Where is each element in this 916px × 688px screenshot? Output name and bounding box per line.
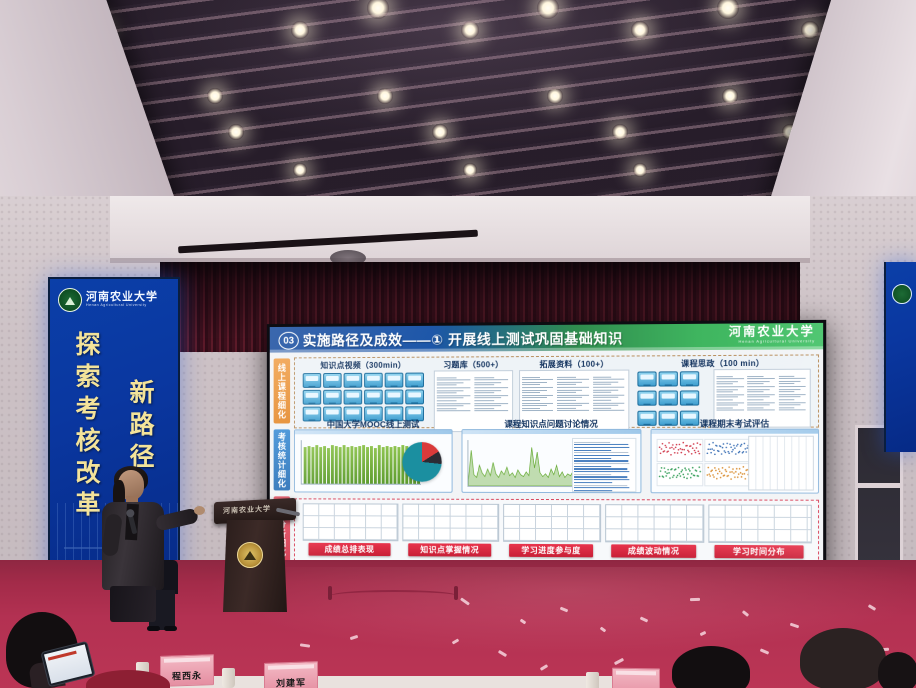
name-card bbox=[612, 668, 660, 688]
analysis-label-progress: 学习进度参与度 bbox=[509, 544, 593, 557]
list-item bbox=[574, 463, 629, 464]
video-monitor-icon bbox=[323, 373, 342, 388]
presentation-slide: 03 实施路径及成效——① 开展线上测试巩固基础知识 河南农业大学 Henan … bbox=[270, 323, 823, 585]
panel-title: 中国大学MOOC线上测试 bbox=[295, 418, 452, 430]
video-monitor-icon bbox=[364, 390, 383, 405]
resource-column-exercises: 习题库（500+） bbox=[434, 359, 513, 425]
ceiling-light bbox=[207, 88, 223, 104]
scatter-mini-3 bbox=[657, 463, 704, 486]
video-monitor-icon bbox=[323, 390, 342, 405]
video-monitor-icon bbox=[680, 371, 699, 386]
video-monitor-icon bbox=[385, 373, 404, 388]
scatter-mini-1 bbox=[657, 439, 704, 462]
list-item bbox=[574, 485, 628, 486]
video-monitor-icon bbox=[680, 391, 699, 406]
ceiling-light bbox=[461, 21, 479, 39]
bar bbox=[347, 448, 350, 484]
name-card-text: 程西永 bbox=[172, 668, 202, 682]
ceiling-light bbox=[722, 88, 738, 104]
scatter-mini-4 bbox=[704, 463, 751, 486]
presenter bbox=[86, 470, 182, 620]
ceiling-light bbox=[432, 124, 448, 140]
podium: 河南农业大学 bbox=[214, 500, 296, 612]
stanchion-post bbox=[328, 586, 332, 600]
paper-cup bbox=[586, 672, 599, 688]
resource-title: 课程思政（100 min） bbox=[635, 358, 810, 370]
slide-university-en: Henan Agricultural University bbox=[729, 338, 815, 344]
analysis-label-fluctuation: 成绩波动情况 bbox=[611, 544, 696, 558]
bar bbox=[366, 447, 369, 484]
analysis-label-time-distribution: 学习时间分布 bbox=[714, 545, 803, 559]
panel-title: 课程期末考试评估 bbox=[652, 417, 818, 429]
bar bbox=[362, 445, 365, 484]
resource-title: 知识点视频（300min） bbox=[301, 360, 426, 372]
banner-headline-2: 新路径 bbox=[122, 379, 158, 475]
video-monitor-icon bbox=[344, 390, 363, 405]
slide-university-cn: 河南农业大学 bbox=[729, 325, 815, 339]
ceiling-light bbox=[291, 21, 309, 39]
table-row bbox=[708, 504, 811, 543]
list-item bbox=[574, 455, 629, 456]
ceiling-light bbox=[293, 163, 307, 177]
list-item bbox=[574, 468, 628, 469]
list-item bbox=[574, 450, 611, 451]
exam-score-table bbox=[748, 436, 814, 491]
video-monitor-icon bbox=[637, 391, 656, 406]
list-item bbox=[574, 460, 628, 461]
ceiling-light bbox=[801, 21, 819, 39]
bar bbox=[350, 446, 353, 484]
banner-logo: 河南农业大学 Henan Agricultural University bbox=[58, 287, 170, 313]
bar bbox=[331, 445, 334, 484]
slide-section-analysis: 成绩总排表现 知识点掌握情况 学习进度参与度 成绩波动情况 学习时间分布 bbox=[294, 498, 819, 564]
slide-title: 实施路径及成效——① 开展线上测试巩固基础知识 bbox=[303, 328, 623, 350]
university-seal-icon bbox=[58, 288, 82, 312]
wall-soffit bbox=[110, 196, 810, 262]
list-item bbox=[574, 479, 629, 480]
stanchion-rope bbox=[330, 590, 458, 602]
bar bbox=[343, 445, 346, 483]
stanchion-post bbox=[454, 586, 458, 600]
list-item bbox=[574, 441, 610, 442]
video-monitor-icon bbox=[405, 389, 424, 404]
list-item bbox=[574, 447, 629, 448]
ceiling-light bbox=[612, 124, 628, 140]
video-monitor-icon bbox=[637, 371, 656, 386]
bar bbox=[386, 446, 389, 483]
audience-head bbox=[800, 628, 886, 688]
banner-university-en: Henan Agricultural University bbox=[86, 304, 158, 308]
list-item bbox=[574, 490, 613, 491]
audience-head bbox=[878, 652, 916, 688]
ceiling-light bbox=[631, 21, 649, 39]
bar bbox=[397, 448, 400, 484]
banner-university-name: 河南农业大学 Henan Agricultural University bbox=[86, 292, 158, 307]
ceiling-light bbox=[463, 163, 477, 177]
list-item bbox=[574, 452, 628, 453]
phone-screen bbox=[44, 644, 92, 683]
bar bbox=[394, 446, 397, 484]
ceiling-light bbox=[228, 124, 244, 140]
bar bbox=[335, 446, 338, 483]
slide-university-mark: 河南农业大学 Henan Agricultural University bbox=[729, 325, 815, 344]
video-monitor-icon bbox=[303, 390, 321, 405]
slide-tab-online-course: 线上课程细化 bbox=[274, 358, 290, 423]
name-card: 刘建军 bbox=[264, 661, 318, 688]
bar bbox=[358, 446, 361, 483]
video-monitor-icon bbox=[659, 391, 678, 406]
list-item bbox=[574, 466, 611, 467]
panel-mooc-test: 中国大学MOOC线上测试 bbox=[294, 429, 453, 493]
university-emblem-icon bbox=[237, 542, 263, 568]
table-row bbox=[402, 504, 499, 542]
list-item bbox=[574, 444, 628, 445]
right-led-banner bbox=[884, 262, 916, 452]
area-chart bbox=[467, 440, 576, 487]
video-monitor-icon bbox=[405, 373, 424, 388]
bar bbox=[304, 447, 307, 483]
analysis-label-score-ranking: 成绩总排表现 bbox=[309, 543, 391, 556]
projection-screen: 03 实施路径及成效——① 开展线上测试巩固基础知识 河南农业大学 Henan … bbox=[267, 320, 826, 588]
list-item bbox=[574, 476, 628, 477]
resource-column-videos: 知识点视频（300min） bbox=[301, 360, 426, 426]
audience-table bbox=[150, 676, 620, 688]
slide-tab-assessment-stats: 考核统计细化 bbox=[274, 429, 290, 490]
confetti-piece bbox=[690, 598, 700, 601]
table-row bbox=[605, 504, 704, 543]
resource-title: 拓展资料（100+） bbox=[519, 359, 629, 371]
list-item bbox=[574, 458, 611, 459]
scatter-mini-2 bbox=[704, 439, 751, 462]
bar bbox=[319, 447, 322, 484]
resource-column-ideology: 课程思政（100 min） bbox=[635, 358, 810, 425]
table-row bbox=[503, 504, 601, 542]
discussion-list bbox=[572, 438, 636, 492]
list-item bbox=[574, 471, 629, 472]
video-monitor-icon bbox=[303, 373, 321, 388]
bar bbox=[315, 445, 318, 483]
list-item bbox=[574, 487, 629, 488]
bar bbox=[378, 445, 381, 483]
video-monitor-icon bbox=[364, 373, 383, 388]
bar bbox=[339, 447, 342, 484]
ceiling-light bbox=[547, 88, 563, 104]
monitor-grid bbox=[301, 371, 426, 422]
bar bbox=[370, 446, 373, 484]
table-row bbox=[303, 503, 399, 541]
list-item bbox=[574, 474, 611, 475]
analysis-label-knowledge: 知识点掌握情况 bbox=[408, 543, 491, 556]
name-card-text: 刘建军 bbox=[276, 675, 306, 688]
bar bbox=[327, 448, 330, 484]
list-item bbox=[574, 482, 612, 483]
video-monitor-icon bbox=[344, 373, 363, 388]
panel-discussion: 课程知识点问题讨论情况 bbox=[461, 429, 641, 493]
ceiling-light bbox=[633, 163, 647, 177]
bar bbox=[311, 448, 314, 484]
bar bbox=[390, 447, 393, 484]
resource-title: 习题库（500+） bbox=[434, 359, 513, 370]
video-monitor-icon bbox=[659, 371, 678, 386]
video-monitor-icon bbox=[385, 390, 404, 405]
bar bbox=[382, 447, 385, 484]
conference-photo: 河南农业大学 Henan Agricultural University 探索考… bbox=[0, 0, 916, 688]
panel-final-exam: 课程期末考试评估 bbox=[651, 429, 819, 494]
ceiling-light bbox=[377, 88, 393, 104]
bar bbox=[374, 448, 377, 484]
resource-column-materials: 拓展资料（100+） bbox=[519, 359, 629, 426]
bar bbox=[354, 447, 357, 484]
banner-university-cn: 河南农业大学 bbox=[86, 291, 158, 303]
bar bbox=[323, 446, 326, 484]
slide-section-number: 03 bbox=[278, 332, 298, 350]
university-seal-icon bbox=[892, 284, 912, 304]
paper-cup bbox=[222, 668, 235, 688]
panel-title: 课程知识点问题讨论情况 bbox=[462, 418, 640, 430]
pie-chart bbox=[402, 442, 441, 482]
bar bbox=[308, 446, 311, 483]
